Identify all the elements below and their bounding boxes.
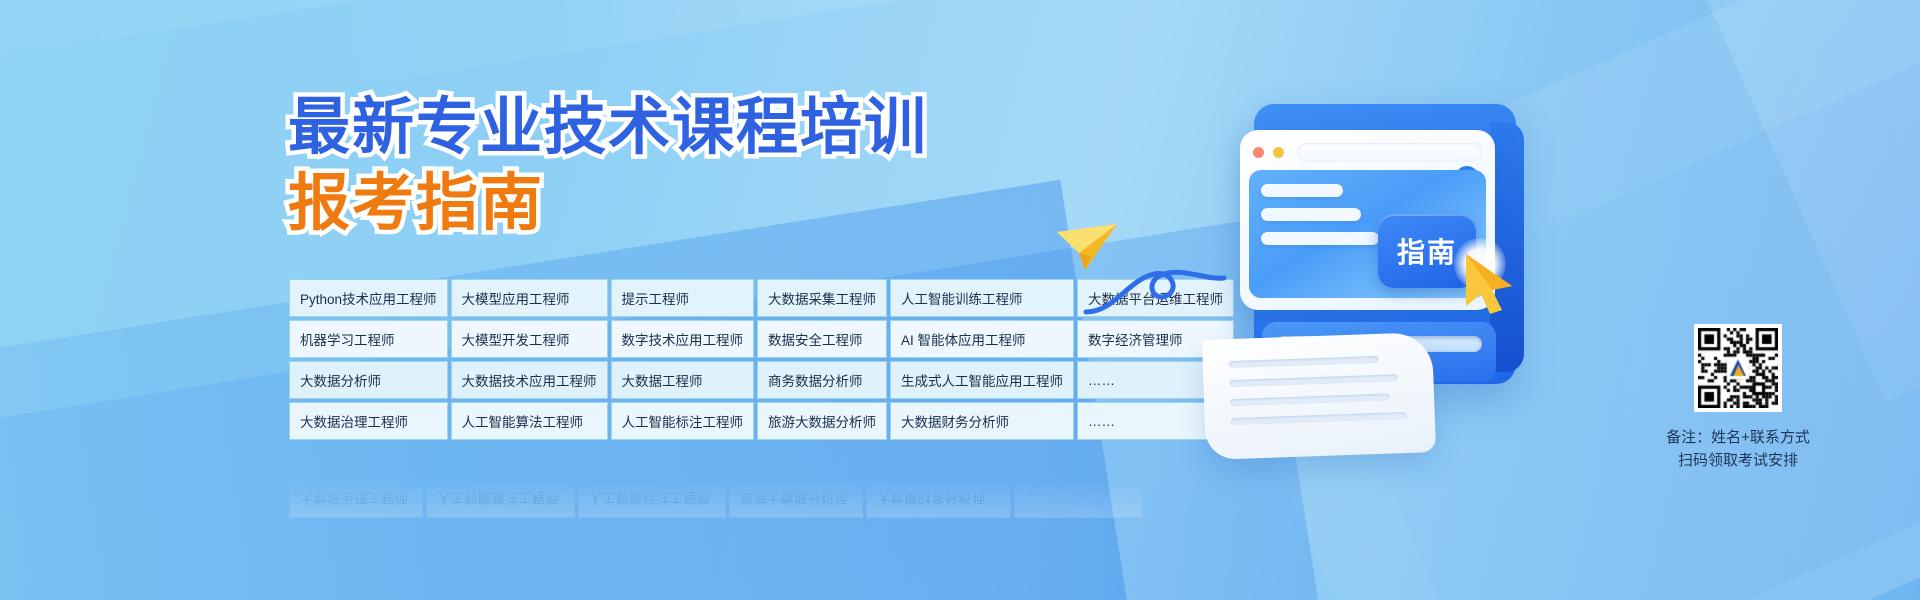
table-cell: 生成式人工智能应用工程师 [890,361,1074,399]
qr-caption-line-1: 备注：姓名+联系方式 [1658,426,1818,449]
table-cell: 大数据财务分析师 [890,402,1074,440]
table-cell: 大数据技术应用工程师 [451,361,608,399]
search-input[interactable] [1297,143,1482,162]
table-cell: 数据安全工程师 [757,320,887,358]
table-cell: 提示工程师 [611,279,755,317]
table-cell: 人工智能算法工程师 [426,480,574,518]
browser-content: 指南 [1249,170,1486,298]
table-cell: 大数据分析师 [289,361,448,399]
headline-line-2: 报考指南 [288,172,928,234]
background-band-upper [0,0,1920,96]
table-cell: 大数据财务分析师 [866,480,1011,518]
paper-text-line [1229,356,1379,368]
table-cell: 大数据采集工程师 [757,279,887,317]
certification-table-reflection-body: 大数据治理工程师人工智能算法工程师人工智能标注工程师旅游大数据分析师大数据财务分… [289,480,1143,518]
table-row: 大数据分析师大数据技术应用工程师大数据工程师商务数据分析师生成式人工智能应用工程… [289,361,1234,399]
browser-topbar [1249,139,1486,165]
table-cell: 大数据治理工程师 [289,402,448,440]
table-cell: 人工智能标注工程师 [611,402,755,440]
qr-caption-line-2: 扫码领取考试安排 [1658,449,1818,472]
table-cell: 大数据治理工程师 [289,480,423,518]
table-cell: 人工智能训练工程师 [890,279,1074,317]
table-cell: Python技术应用工程师 [289,279,448,317]
content-placeholder-bar [1261,232,1379,245]
certification-table-reflection: 大数据治理工程师人工智能算法工程师人工智能标注工程师旅游大数据分析师大数据财务分… [286,477,1146,521]
printed-paper [1202,332,1436,460]
promo-banner: 最新专业技术课程培训 报考指南 Python技术应用工程师大模型应用工程师提示工… [0,0,1920,600]
paper-text-line [1231,412,1407,425]
table-row: 机器学习工程师大模型开发工程师数字技术应用工程师数据安全工程师AI 智能体应用工… [289,320,1234,358]
table-cell: 大数据工程师 [611,361,755,399]
table-cell: 商务数据分析师 [757,361,887,399]
table-cell: 数字技术应用工程师 [611,320,755,358]
table-cell: …… [1014,480,1143,518]
paper-text-line [1230,394,1390,407]
qr-block: 备注：姓名+联系方式 扫码领取考试安排 [1658,324,1818,473]
headline-line-1: 最新专业技术课程培训 [288,96,928,158]
certification-table-wrap: Python技术应用工程师大模型应用工程师提示工程师大数据采集工程师人工智能训练… [286,276,1146,443]
table-cell: AI 智能体应用工程师 [890,320,1074,358]
table-row: 大数据治理工程师人工智能算法工程师人工智能标注工程师旅游大数据分析师大数据财务分… [289,402,1234,440]
arrow-cursor-icon [1462,252,1520,319]
table-row: 大数据治理工程师人工智能算法工程师人工智能标注工程师旅游大数据分析师大数据财务分… [289,480,1143,518]
qr-code-icon[interactable] [1694,324,1782,412]
headline-group: 最新专业技术课程培训 报考指南 [288,96,928,234]
background-band-upper-2 [250,0,1920,97]
paper-text-line [1229,374,1397,387]
device-screen: 指南 [1240,130,1495,310]
content-placeholder-bar [1261,208,1361,221]
yellow-dot-icon [1273,147,1284,158]
content-placeholder-bar [1261,184,1343,197]
table-cell: 人工智能标注工程师 [578,480,726,518]
red-dot-icon [1253,147,1264,158]
device-illustration: 指南 [1210,100,1540,400]
table-cell: 人工智能算法工程师 [451,402,608,440]
plane-trail-icon [1080,250,1230,325]
table-cell: 大模型开发工程师 [451,320,608,358]
table-cell: 旅游大数据分析师 [729,480,863,518]
table-cell: 大模型应用工程师 [451,279,608,317]
table-cell: 旅游大数据分析师 [757,402,887,440]
table-cell: 机器学习工程师 [289,320,448,358]
